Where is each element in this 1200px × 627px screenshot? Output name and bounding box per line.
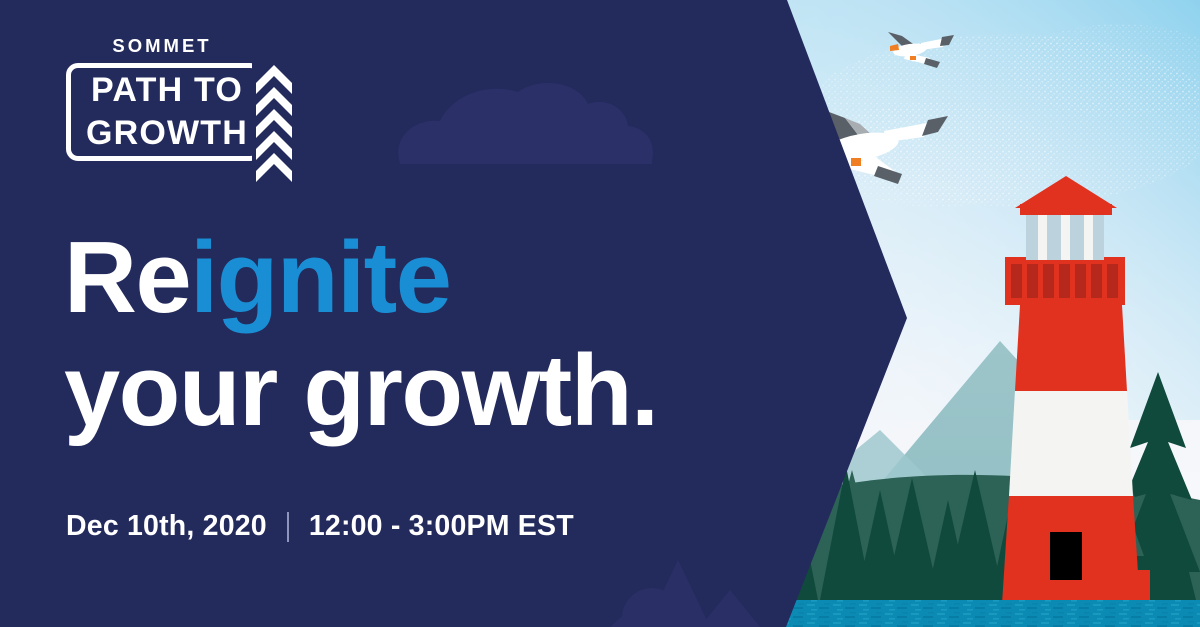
chevron-up-icon [252, 63, 296, 183]
headline-line-1: Reignite [64, 222, 784, 335]
page-title: Reignite your growth. [64, 222, 784, 448]
event-date: Dec 10th, 2020 [66, 510, 267, 543]
logo-main-text: PATH TO GROWTH [75, 69, 259, 155]
headline-plain: Re [64, 222, 190, 334]
datetime-separator [287, 512, 289, 542]
water [600, 600, 1200, 627]
lighthouse-band-white [1009, 390, 1133, 496]
lighthouse-door [1050, 532, 1082, 580]
headline-line-2: your growth. [64, 335, 784, 448]
brand-logo[interactable]: SOMMET PATH TO GROWTH [62, 33, 292, 191]
logo-top-word: SOMMET [62, 35, 262, 57]
event-datetime: Dec 10th, 2020 12:00 - 3:00PM EST [66, 510, 574, 543]
railing-balusters [1011, 264, 1118, 298]
event-time: 12:00 - 3:00PM EST [309, 510, 574, 543]
headline-accent: ignite [190, 222, 450, 334]
lantern-room-mullions [1038, 212, 1093, 260]
event-banner: SOMMET PATH TO GROWTH Reignite your grow… [0, 0, 1200, 627]
